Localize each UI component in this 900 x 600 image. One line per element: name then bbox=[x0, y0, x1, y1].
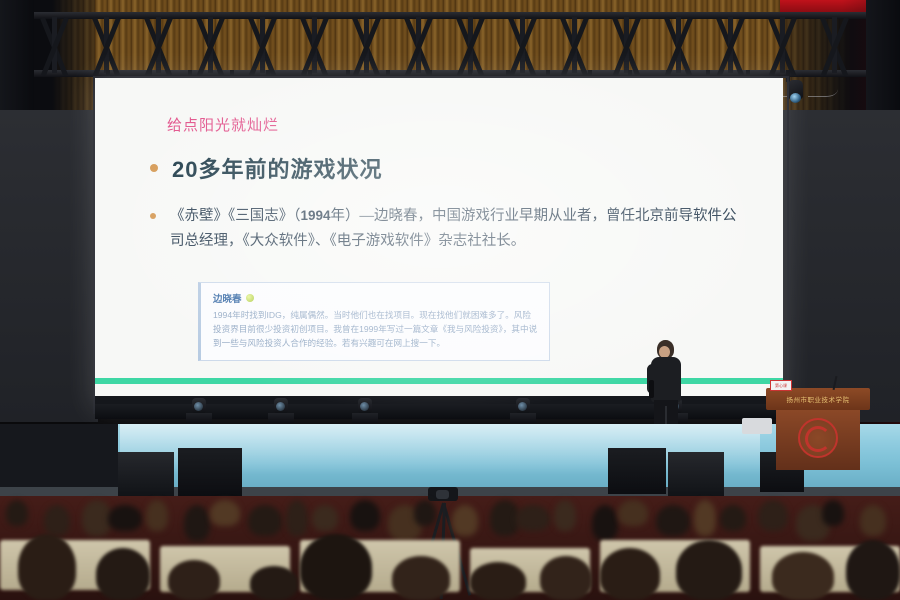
audience-head bbox=[300, 534, 372, 600]
bullet-icon bbox=[150, 213, 156, 219]
auditorium-photo: 给点阳光就灿烂 20多年前的游戏状况 《赤壁》《三国志》（1994年）—边晓春，… bbox=[0, 0, 900, 600]
audience-head bbox=[772, 552, 834, 600]
podium-sign: 第心课 bbox=[770, 380, 792, 391]
audience-head bbox=[822, 500, 844, 526]
audience-head bbox=[96, 548, 150, 600]
audience-head bbox=[540, 556, 592, 600]
quote-text: 1994年时找到IDG，纯属偶然。当时他们也在找项目。现在找他们就困难多了。风险… bbox=[213, 309, 539, 351]
quote-author-name: 边晓春 bbox=[213, 291, 242, 305]
audience-head bbox=[516, 505, 550, 531]
audience-head bbox=[414, 500, 436, 526]
audience-head bbox=[146, 500, 168, 531]
slide-heading: 20多年前的游戏状况 bbox=[172, 152, 382, 184]
stage-monitor-speaker bbox=[178, 448, 242, 496]
lighting-truss bbox=[0, 12, 900, 78]
floor-moving-light bbox=[268, 398, 294, 424]
body-year: 1994 bbox=[301, 208, 331, 223]
stage-flat-right bbox=[782, 110, 900, 422]
audience-head bbox=[618, 500, 648, 526]
body-part-1: 《赤壁》《三国志》（ bbox=[170, 208, 301, 224]
audience-head bbox=[758, 500, 788, 531]
audience-head bbox=[44, 505, 70, 536]
audience-head bbox=[6, 500, 28, 526]
stage-flat-left bbox=[0, 110, 98, 422]
floor-moving-light bbox=[352, 398, 378, 424]
floor-moving-light bbox=[510, 398, 536, 424]
audience-head bbox=[720, 505, 746, 531]
floor-moving-light bbox=[186, 398, 212, 424]
slide-body-text: 《赤壁》《三国志》（1994年）—边晓春，中国游戏行业早期从业者，曾任北京前导软… bbox=[170, 204, 750, 254]
verified-badge-icon bbox=[246, 294, 254, 302]
slide-heading-row: 20多年前的游戏状况 bbox=[150, 152, 382, 184]
podium-nameplate: 扬州市职业技术学院 bbox=[772, 392, 864, 405]
quote-card: 边晓春 1994年时找到IDG，纯属偶然。当时他们也在找项目。现在找他们就困难多… bbox=[198, 282, 550, 361]
audience-head bbox=[312, 505, 338, 531]
body-part-2: 年）—边晓春，中国游戏行业早期从业者， bbox=[331, 208, 607, 224]
audience-head bbox=[286, 500, 308, 536]
stage-monitor-speaker bbox=[118, 452, 174, 496]
stage-monitor-speaker bbox=[608, 448, 666, 494]
quote-author-row: 边晓春 bbox=[213, 291, 539, 305]
audience-head bbox=[108, 505, 142, 531]
audience-head bbox=[470, 562, 526, 600]
audience-head bbox=[350, 500, 380, 531]
truss-top-chord bbox=[0, 12, 900, 19]
audience-head bbox=[452, 505, 478, 536]
audience-head bbox=[676, 540, 742, 600]
stage-monitor-speaker bbox=[668, 452, 724, 496]
slide-body-row: 《赤壁》《三国志》（1994年）—边晓春，中国游戏行业早期从业者，曾任北京前导软… bbox=[150, 204, 750, 254]
stage-floor-shadow bbox=[0, 424, 118, 496]
slide-kicker: 给点阳光就灿烂 bbox=[167, 114, 279, 135]
audience-head bbox=[210, 500, 240, 526]
microphone-icon bbox=[649, 380, 654, 398]
audience-head bbox=[250, 566, 298, 600]
audience-head bbox=[846, 540, 900, 600]
audience-head bbox=[554, 500, 576, 531]
podium: 扬州市职业技术学院 第心课 bbox=[766, 388, 870, 476]
podium-spiral-icon bbox=[805, 426, 831, 452]
audience-head bbox=[694, 500, 716, 536]
bullet-icon bbox=[150, 164, 158, 172]
audience-head bbox=[860, 505, 886, 536]
audience-head bbox=[600, 548, 660, 600]
audience-head bbox=[248, 505, 282, 536]
audience-head bbox=[392, 556, 450, 600]
camera-lens-icon bbox=[436, 490, 449, 499]
audience-head bbox=[592, 505, 618, 541]
podium-sign-text: 第心课 bbox=[771, 381, 791, 390]
audience-head bbox=[656, 505, 690, 536]
audience-head bbox=[18, 534, 76, 600]
audience-head bbox=[168, 560, 220, 600]
body-part-4: 社社长。 bbox=[467, 233, 525, 249]
audience-head bbox=[184, 505, 210, 541]
